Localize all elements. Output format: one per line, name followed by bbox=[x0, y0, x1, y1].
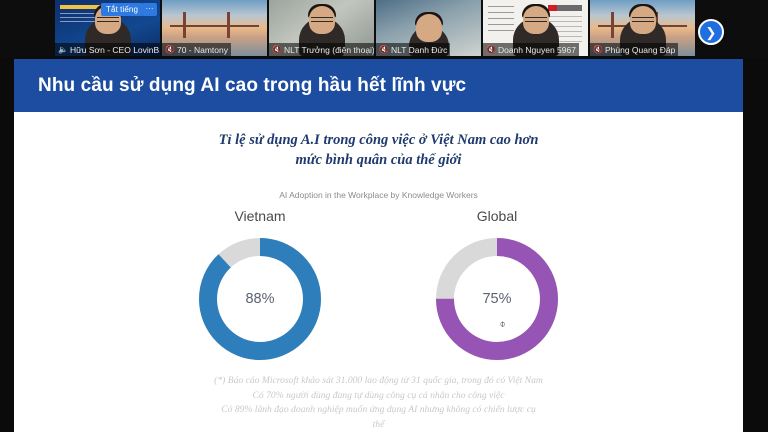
slide-body: Tỉ lệ sử dụng A.I trong công việc ở Việt… bbox=[14, 112, 743, 432]
donut-chart-vietnam: Vietnam 88% bbox=[194, 208, 326, 365]
next-page-button[interactable]: ❯ bbox=[698, 19, 724, 45]
microphone-muted-icon: 🔇 bbox=[379, 46, 389, 54]
slide-subtitle-line2: mức bình quân của thế giới bbox=[14, 150, 743, 170]
tile-more-button[interactable]: ··· bbox=[142, 3, 157, 16]
footnote-line-4: thể bbox=[14, 418, 743, 432]
presentation-slide: Nhu cầu sử dụng AI cao trong hầu hết lĩn… bbox=[14, 59, 743, 432]
microphone-icon: 🔈 bbox=[58, 46, 68, 54]
participant-name-badge: 🔇 NLT Trưởng (điện thoại) bbox=[269, 43, 374, 56]
slide-subtitle: Tỉ lệ sử dụng A.I trong công việc ở Việt… bbox=[14, 130, 743, 170]
participant-name: Doanh Nguyen 5967 bbox=[498, 45, 576, 55]
footnote-line-2: Có 70% người dùng đang tự dùng công cụ c… bbox=[14, 389, 743, 404]
participant-name: NLT Danh Đức bbox=[391, 45, 447, 55]
slide-footnote: (*) Báo cáo Microsoft khảo sát 31.000 la… bbox=[14, 374, 743, 432]
participant-name-badge: 🔇 Doanh Nguyen 5967 bbox=[483, 43, 579, 56]
participant-tile-4[interactable]: 🔇 Doanh Nguyen 5967 bbox=[483, 0, 588, 56]
donut-ring-global: 75% ⌽ bbox=[431, 233, 563, 365]
slide-subtitle-line1: Tỉ lệ sử dụng A.I trong công việc ở Việt… bbox=[14, 130, 743, 150]
participant-name-badge: 🔇 70 - Namtony bbox=[162, 43, 231, 56]
microphone-muted-icon: 🔇 bbox=[593, 46, 603, 54]
microphone-muted-icon: 🔇 bbox=[272, 46, 282, 54]
participant-name: 70 - Namtony bbox=[177, 45, 228, 55]
participant-name-badge: 🔇 Phùng Quang Đáp bbox=[590, 43, 678, 56]
participant-tile-5[interactable]: 🔇 Phùng Quang Đáp bbox=[590, 0, 695, 56]
participant-tile-2[interactable]: 🔇 NLT Trưởng (điện thoại) bbox=[269, 0, 374, 56]
donut-value-vietnam: 88% bbox=[194, 233, 326, 365]
participant-name: Hữu Sơn - CEO LovinB.. bbox=[70, 45, 160, 55]
donut-chart-global: Global 75% ⌽ bbox=[431, 208, 563, 365]
footnote-line-3: Có 89% lãnh đạo doanh nghiệp muốn ứng dụ… bbox=[14, 403, 743, 418]
filmstrip-left-padding bbox=[0, 0, 55, 58]
microphone-muted-icon: 🔇 bbox=[165, 46, 175, 54]
participant-name-badge: 🔇 NLT Danh Đức bbox=[376, 43, 450, 56]
page-title: Nhu cầu sử dụng AI cao trong hầu hết lĩn… bbox=[38, 75, 466, 97]
participant-filmstrip[interactable]: Tắt tiếng ··· 🔈 Hữu Sơn - CEO LovinB.. 🔇… bbox=[0, 0, 768, 58]
donut-label-vietnam: Vietnam bbox=[234, 208, 285, 224]
mute-button[interactable]: Tắt tiếng bbox=[101, 3, 143, 16]
donut-ring-vietnam: 88% bbox=[194, 233, 326, 365]
mouse-cursor-icon: ⌽ bbox=[500, 320, 508, 331]
participant-name: NLT Trưởng (điện thoại) bbox=[284, 45, 374, 55]
footnote-line-1: (*) Báo cáo Microsoft khảo sát 31.000 la… bbox=[14, 374, 743, 389]
participant-tiles: Tắt tiếng ··· 🔈 Hữu Sơn - CEO LovinB.. 🔇… bbox=[55, 0, 697, 58]
slide-header: Nhu cầu sử dụng AI cao trong hầu hết lĩn… bbox=[14, 59, 743, 112]
chevron-right-icon: ❯ bbox=[706, 26, 717, 39]
meeting-screen: Tắt tiếng ··· 🔈 Hữu Sơn - CEO LovinB.. 🔇… bbox=[0, 0, 768, 432]
participant-name-badge: 🔈 Hữu Sơn - CEO LovinB.. bbox=[55, 43, 160, 56]
participant-tile-3[interactable]: 🔇 NLT Danh Đức bbox=[376, 0, 481, 56]
chart-title: AI Adoption in the Workplace by Knowledg… bbox=[14, 190, 743, 200]
participant-tile-1[interactable]: 🔇 70 - Namtony bbox=[162, 0, 267, 56]
donut-value-global: 75% bbox=[431, 233, 563, 365]
donut-label-global: Global bbox=[477, 208, 517, 224]
participant-tile-0[interactable]: Tắt tiếng ··· 🔈 Hữu Sơn - CEO LovinB.. bbox=[55, 0, 160, 56]
microphone-muted-icon: 🔇 bbox=[486, 46, 496, 54]
donut-chart-group: Vietnam 88% Global bbox=[14, 208, 743, 365]
participant-name: Phùng Quang Đáp bbox=[605, 45, 675, 55]
